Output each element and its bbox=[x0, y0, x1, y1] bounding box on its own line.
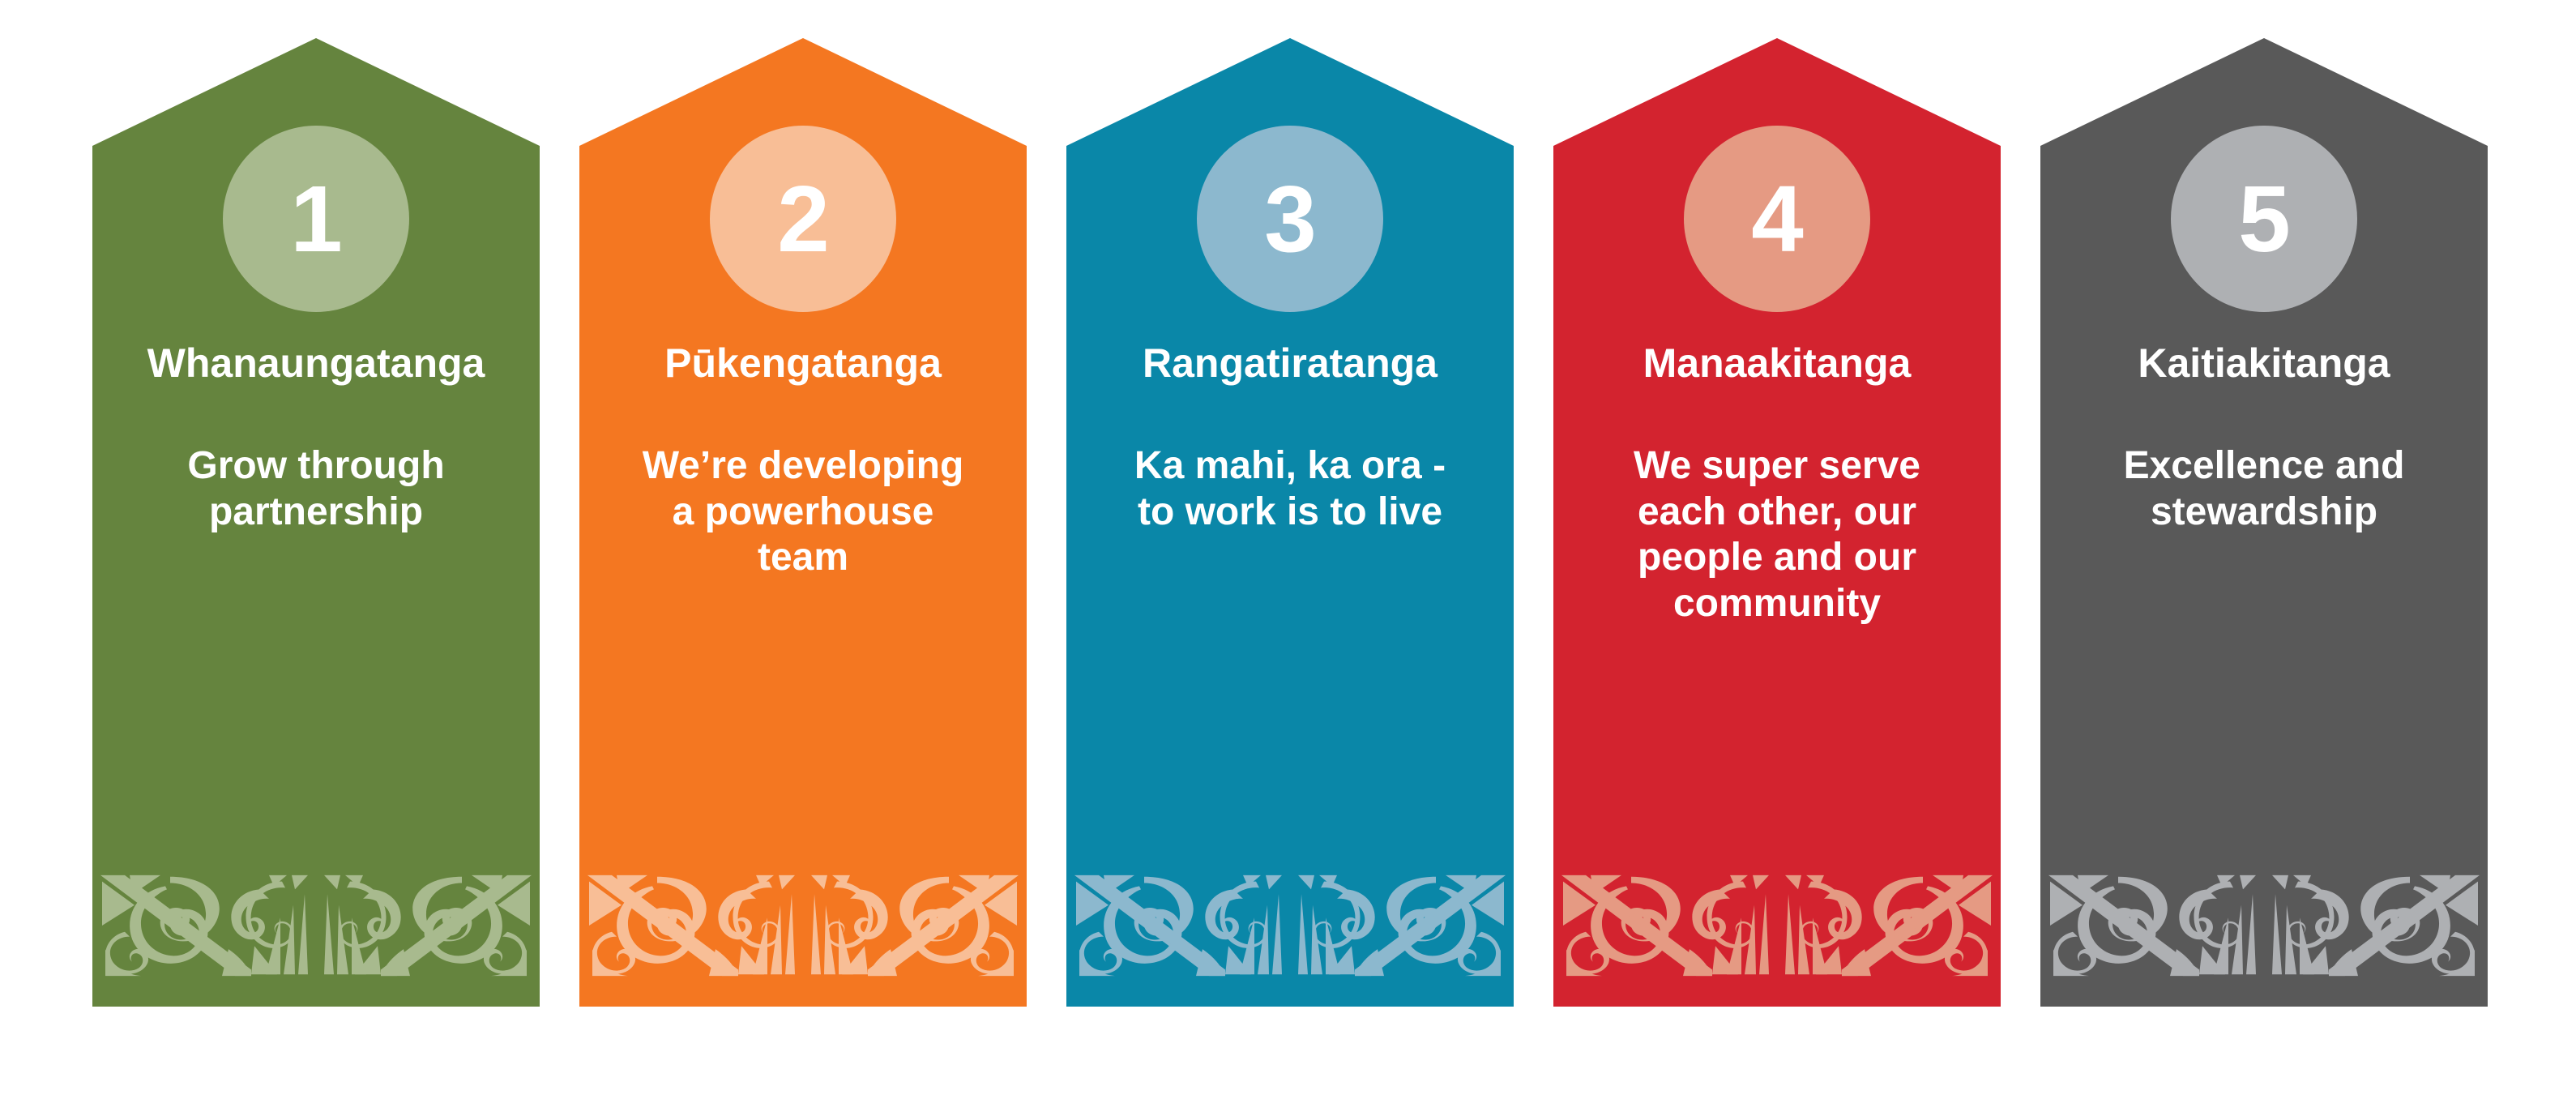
pillar-tagline: We’re developing a powerhouse team bbox=[579, 443, 1027, 581]
pillar-title: Rangatiratanga bbox=[1066, 341, 1514, 385]
kowhaiwhai-pattern-icon bbox=[1553, 870, 2001, 981]
pillar-number: 3 bbox=[1264, 172, 1316, 266]
pillar-number-badge: 1 bbox=[223, 126, 409, 312]
kowhaiwhai-pattern-icon bbox=[1066, 870, 1514, 981]
kowhaiwhai-pattern-icon bbox=[2040, 870, 2488, 981]
pillar-number-badge: 2 bbox=[710, 126, 896, 312]
pillar-tagline: Ka mahi, ka ora - to work is to live bbox=[1066, 443, 1514, 535]
value-pillar[interactable]: 3 Rangatiratanga Ka mahi, ka ora - to wo… bbox=[1066, 38, 1514, 1007]
pillar-tagline: Excellence and stewardship bbox=[2040, 443, 2488, 535]
pillar-number-badge: 5 bbox=[2171, 126, 2357, 312]
kowhaiwhai-pattern-icon bbox=[579, 870, 1027, 981]
pillar-title: Kaitiakitanga bbox=[2040, 341, 2488, 385]
value-pillar[interactable]: 2 Pūkengatanga We’re developing a powerh… bbox=[579, 38, 1027, 1007]
pillar-title: Whanaungatanga bbox=[92, 341, 540, 385]
pillar-number: 5 bbox=[2238, 172, 2290, 266]
pillar-tagline: Grow through partnership bbox=[92, 443, 540, 535]
kowhaiwhai-pattern-icon bbox=[92, 870, 540, 981]
pillar-tagline: We super serve each other, our people an… bbox=[1553, 443, 2001, 627]
values-pillars-graphic: 1 Whanaungatanga Grow through partnershi… bbox=[0, 0, 2576, 1099]
pillar-title: Pūkengatanga bbox=[579, 341, 1027, 385]
value-pillar[interactable]: 1 Whanaungatanga Grow through partnershi… bbox=[92, 38, 540, 1007]
pillar-number: 2 bbox=[777, 172, 829, 266]
pillar-title: Manaakitanga bbox=[1553, 341, 2001, 385]
value-pillar[interactable]: 5 Kaitiakitanga Excellence and stewardsh… bbox=[2040, 38, 2488, 1007]
pillar-number: 1 bbox=[290, 172, 342, 266]
pillar-number: 4 bbox=[1751, 172, 1803, 266]
pillar-number-badge: 3 bbox=[1197, 126, 1383, 312]
value-pillar[interactable]: 4 Manaakitanga We super serve each other… bbox=[1553, 38, 2001, 1007]
pillar-number-badge: 4 bbox=[1684, 126, 1870, 312]
